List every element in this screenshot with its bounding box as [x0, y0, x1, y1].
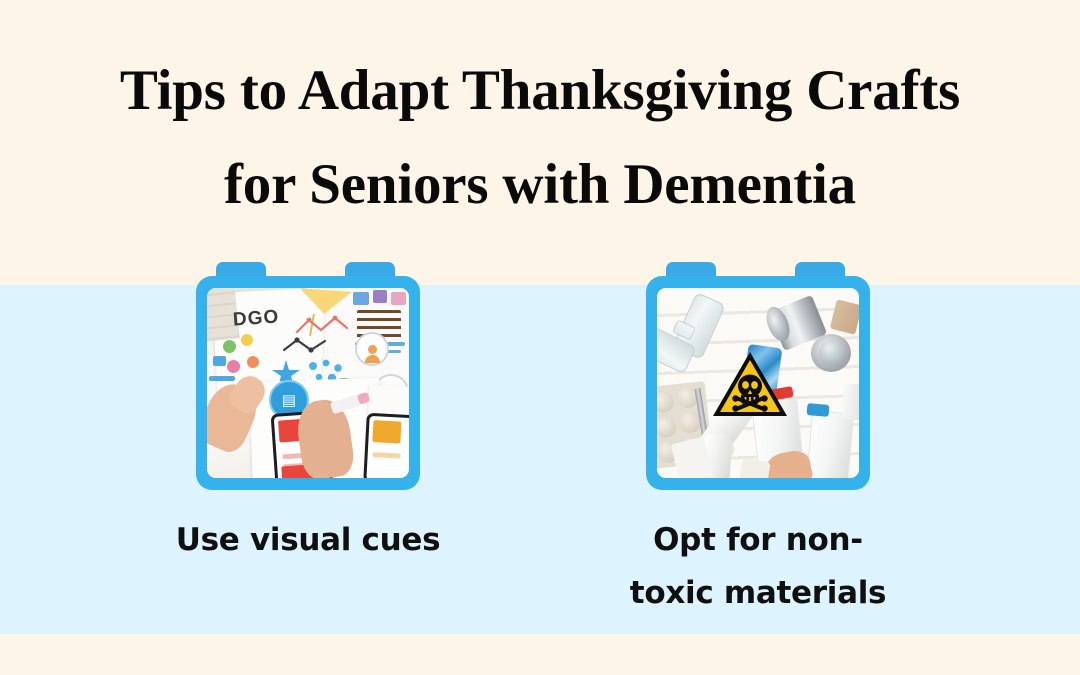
tip-image-non-toxic [657, 288, 859, 478]
tip-card-caption: Opt for non-toxic materials [618, 514, 898, 620]
infographic-slide: Tips to Adapt Thanksgiving Crafts for Se… [0, 0, 1080, 675]
skull-and-crossbones-hazard-icon [711, 350, 789, 420]
tip-card-caption: F [1068, 514, 1080, 567]
photo-frame: DGO [196, 262, 420, 490]
tips-card-row: DGO [0, 0, 1080, 675]
frame-body: DGO [196, 276, 420, 490]
tip-card-use-visual-cues[interactable]: DGO [196, 262, 420, 490]
tip-card-non-toxic-materials[interactable]: Opt for non-toxic materials [646, 262, 870, 490]
photo-frame [646, 262, 870, 490]
sticker-avatar-orange-icon [355, 332, 389, 366]
tip-image-visual-cues: DGO [207, 288, 409, 478]
frame-body [646, 276, 870, 490]
image-text-dgo: DGO [232, 306, 280, 331]
paper-panel-right [363, 413, 409, 478]
tip-card-caption: Use visual cues [168, 514, 448, 567]
bottle-cap-blue-icon [807, 403, 830, 417]
doodle-dark-icon [281, 336, 337, 358]
